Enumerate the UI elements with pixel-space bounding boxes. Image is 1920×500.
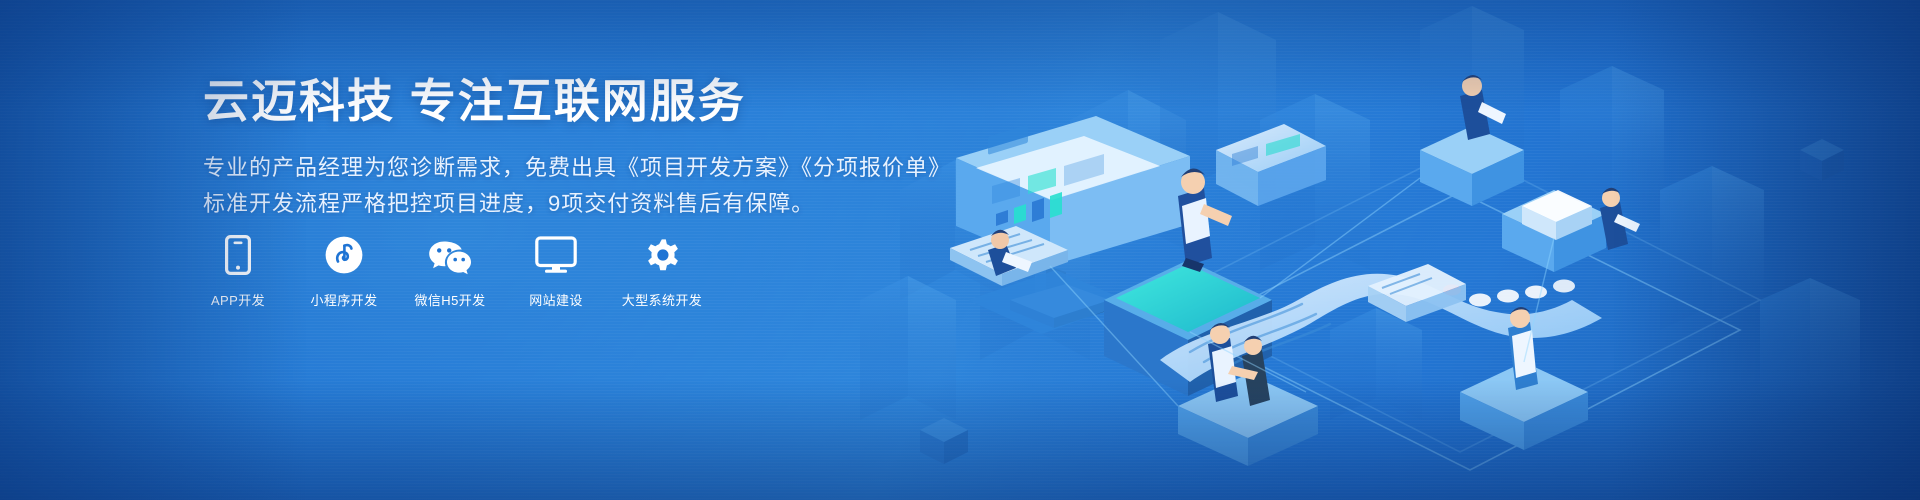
service-label: 大型系统开发 xyxy=(622,290,702,309)
service-item-website[interactable]: 网站建设 xyxy=(521,233,591,309)
subtitle-line-2: 标准开发流程严格把控项目进度，9项交付资料售后有保障。 xyxy=(203,186,963,222)
mobile-phone-icon xyxy=(225,233,251,277)
service-item-app[interactable]: APP开发 xyxy=(203,233,273,309)
service-label: APP开发 xyxy=(211,290,265,309)
illustration-isometric-data-platform xyxy=(860,0,1920,500)
hero-banner: 云迈科技 专注互联网服务 专业的产品经理为您诊断需求，免费出具《项目开发方案》《… xyxy=(0,0,1920,500)
service-label: 网站建设 xyxy=(529,290,583,309)
service-item-wechat-h5[interactable]: 微信H5开发 xyxy=(415,233,485,309)
service-label: 微信H5开发 xyxy=(414,290,485,309)
wechat-icon xyxy=(427,233,473,277)
hero-copy: 云迈科技 专注互联网服务 专业的产品经理为您诊断需求，免费出具《项目开发方案》《… xyxy=(203,72,963,222)
monitor-icon xyxy=(535,233,577,277)
subtitle-line-1: 专业的产品经理为您诊断需求，免费出具《项目开发方案》《分项报价单》 xyxy=(203,150,963,186)
gear-icon xyxy=(642,233,682,277)
service-item-large-system[interactable]: 大型系统开发 xyxy=(627,233,697,309)
page-title: 云迈科技 专注互联网服务 xyxy=(203,72,963,130)
service-item-mini-program[interactable]: 小程序开发 xyxy=(309,233,379,309)
hero-subtitle: 专业的产品经理为您诊断需求，免费出具《项目开发方案》《分项报价单》 标准开发流程… xyxy=(203,150,963,222)
mini-program-icon xyxy=(324,233,364,277)
service-list: APP开发 小程序开发 xyxy=(203,233,697,309)
service-label: 小程序开发 xyxy=(310,290,377,309)
